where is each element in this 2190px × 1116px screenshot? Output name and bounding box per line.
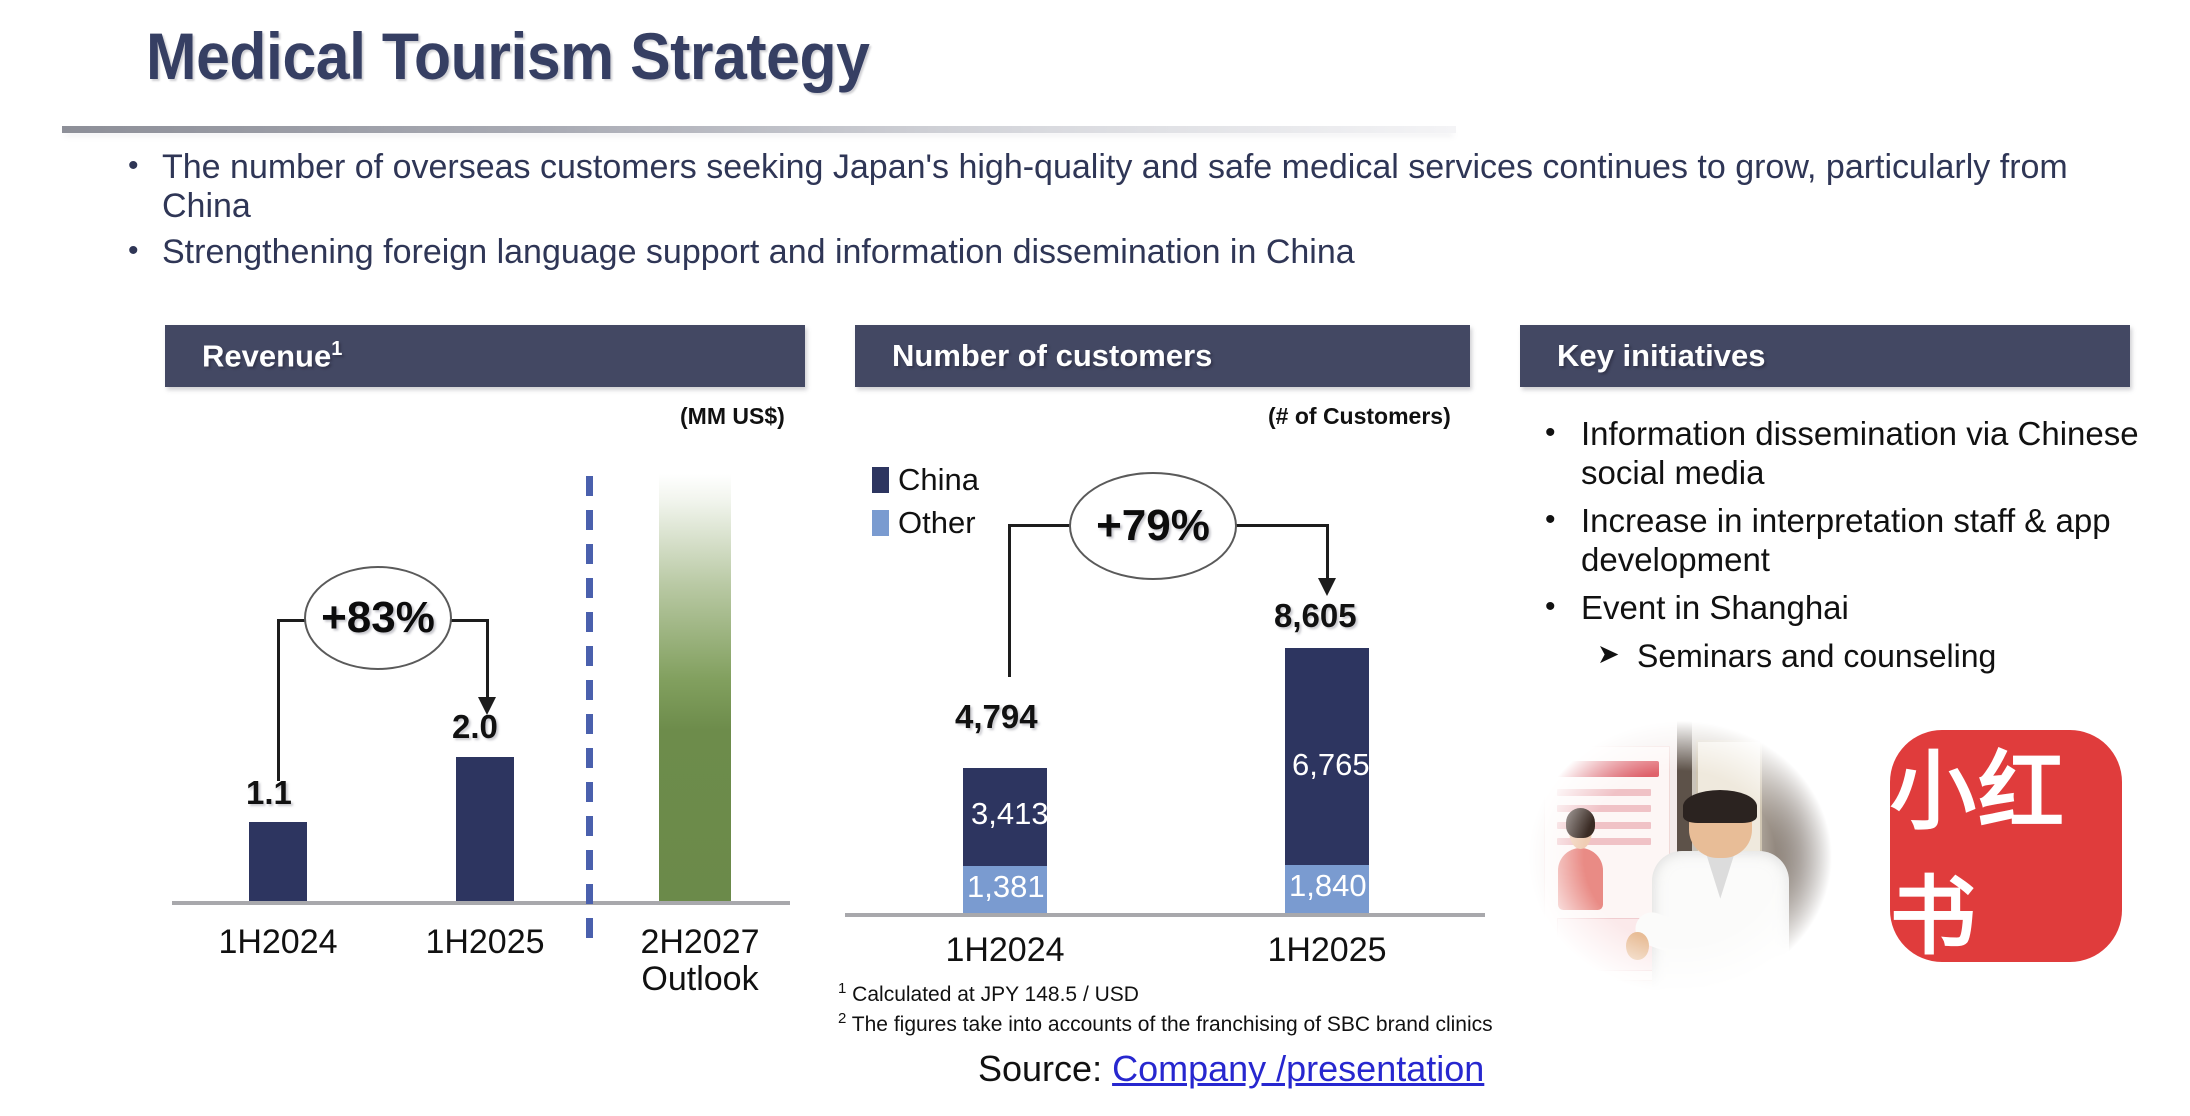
customers-annotation-connector-left: [1008, 524, 1011, 677]
customers-seg-label-1h2024-other: 1,381: [967, 869, 1045, 905]
customers-total-label-1h2025: 8,605: [1274, 597, 1357, 635]
intro-bullet-text: The number of overseas customers seeking…: [162, 148, 2088, 227]
customers-annotation-connector-top-left: [1008, 524, 1074, 527]
revenue-value-label-1h2024: 1.1: [246, 774, 292, 812]
customers-legend: China Other: [872, 462, 979, 548]
customers-panel-header: Number of customers: [855, 325, 1470, 387]
intro-bullet-item: • Strengthening foreign language support…: [128, 233, 2088, 272]
key-initiative-text: Information dissemination via Chinese so…: [1581, 415, 2185, 492]
customers-unit-label: (# of Customers): [1268, 403, 1451, 430]
photo-doctor-hair: [1683, 790, 1757, 823]
customers-annotation-connector-right: [1326, 524, 1329, 584]
revenue-growth-badge: +83%: [304, 566, 452, 670]
key-initiatives-panel-title: Key initiatives: [1557, 338, 1765, 374]
key-initiative-text: Increase in interpretation staff & app d…: [1581, 502, 2185, 579]
page-title: Medical Tourism Strategy: [146, 18, 869, 94]
customers-seg-label-1h2025-china: 6,765: [1292, 747, 1370, 783]
key-initiative-item: • Information dissemination via Chinese …: [1545, 415, 2185, 492]
customers-annotation-arrowhead: [1318, 578, 1336, 596]
photo-poster-title-bar: [1555, 761, 1659, 777]
legend-item-china: China: [872, 462, 979, 498]
revenue-xtick-1h2024: 1H2024: [198, 924, 358, 961]
source-label: Source:: [978, 1048, 1112, 1089]
photo-poster-line: [1557, 789, 1651, 796]
customers-xtick-1h2024: 1H2024: [925, 932, 1085, 969]
footnote-1: 1 Calculated at JPY 148.5 / USD: [838, 980, 1139, 1007]
bullet-icon: •: [1545, 502, 1581, 539]
customers-total-label-1h2024: 4,794: [955, 698, 1038, 736]
photo-doctor: [1649, 796, 1792, 996]
intro-bullet-text: Strengthening foreign language support a…: [162, 233, 2088, 272]
intro-bullet-item: • The number of overseas customers seeki…: [128, 148, 2088, 227]
revenue-xtick-line2: Outlook: [615, 961, 785, 998]
key-initiatives-list: • Information dissemination via Chinese …: [1545, 415, 2185, 675]
revenue-annotation-connector-right: [486, 619, 489, 703]
legend-swatch-china: [872, 467, 889, 493]
xiaohongshu-logo: 小红书: [1890, 730, 2122, 962]
customers-panel-title: Number of customers: [892, 338, 1212, 374]
source-line: Source: Company /presentation: [978, 1048, 1484, 1090]
revenue-bar-1h2024: [249, 822, 307, 901]
legend-swatch-other: [872, 510, 889, 536]
bullet-icon: •: [128, 148, 162, 185]
revenue-annotation-connector-left: [277, 619, 280, 781]
key-initiative-item: • Event in Shanghai: [1545, 589, 2185, 628]
forecast-divider: [586, 476, 593, 944]
revenue-bar-2h2027-outlook: [659, 474, 731, 901]
revenue-bar-1h2025: [456, 757, 514, 901]
revenue-xtick-line1: 2H2027: [615, 924, 785, 961]
customers-seg-label-1h2024-china: 3,413: [971, 796, 1049, 832]
event-photo: [1525, 718, 1835, 996]
bullet-icon: •: [128, 233, 162, 270]
intro-bullet-list: • The number of overseas customers seeki…: [128, 148, 2088, 272]
customers-annotation-connector-top-right: [1231, 524, 1329, 527]
bullet-icon: •: [1545, 589, 1581, 626]
key-initiative-sub-text: Seminars and counseling: [1637, 638, 1996, 675]
revenue-unit-label: (MM US$): [680, 403, 785, 430]
revenue-x-axis: [172, 901, 790, 905]
photo-model-body: [1558, 848, 1604, 911]
key-initiatives-panel-header: Key initiatives: [1520, 325, 2130, 387]
customers-xtick-1h2025: 1H2025: [1247, 932, 1407, 969]
photo-model-hair: [1566, 808, 1595, 837]
arrow-bullet-icon: ➤: [1597, 638, 1637, 672]
bullet-icon: •: [1545, 415, 1581, 452]
customers-seg-label-1h2025-other: 1,840: [1289, 868, 1367, 904]
key-initiative-text: Event in Shanghai: [1581, 589, 1849, 628]
title-divider-rule: [62, 126, 1456, 133]
legend-label-other: Other: [898, 505, 976, 541]
revenue-xtick-1h2025: 1H2025: [405, 924, 565, 961]
revenue-annotation-arrowhead: [478, 697, 496, 715]
source-link[interactable]: Company /presentation: [1112, 1048, 1484, 1089]
legend-item-other: Other: [872, 505, 979, 541]
revenue-xtick-2h2027-outlook: 2H2027 Outlook: [615, 924, 785, 997]
key-initiative-sub-item: ➤ Seminars and counseling: [1597, 638, 2185, 675]
revenue-panel-header: Revenue1: [165, 325, 805, 387]
footnote-2: 2 The figures take into accounts of the …: [838, 1010, 1493, 1037]
photo-poster-model: [1555, 812, 1607, 910]
legend-label-china: China: [898, 462, 979, 498]
key-initiative-item: • Increase in interpretation staff & app…: [1545, 502, 2185, 579]
customers-x-axis: [845, 913, 1485, 917]
customers-growth-badge: +79%: [1069, 472, 1237, 580]
revenue-panel-title: Revenue1: [202, 338, 342, 374]
photo-doctor-hand: [1626, 932, 1649, 961]
